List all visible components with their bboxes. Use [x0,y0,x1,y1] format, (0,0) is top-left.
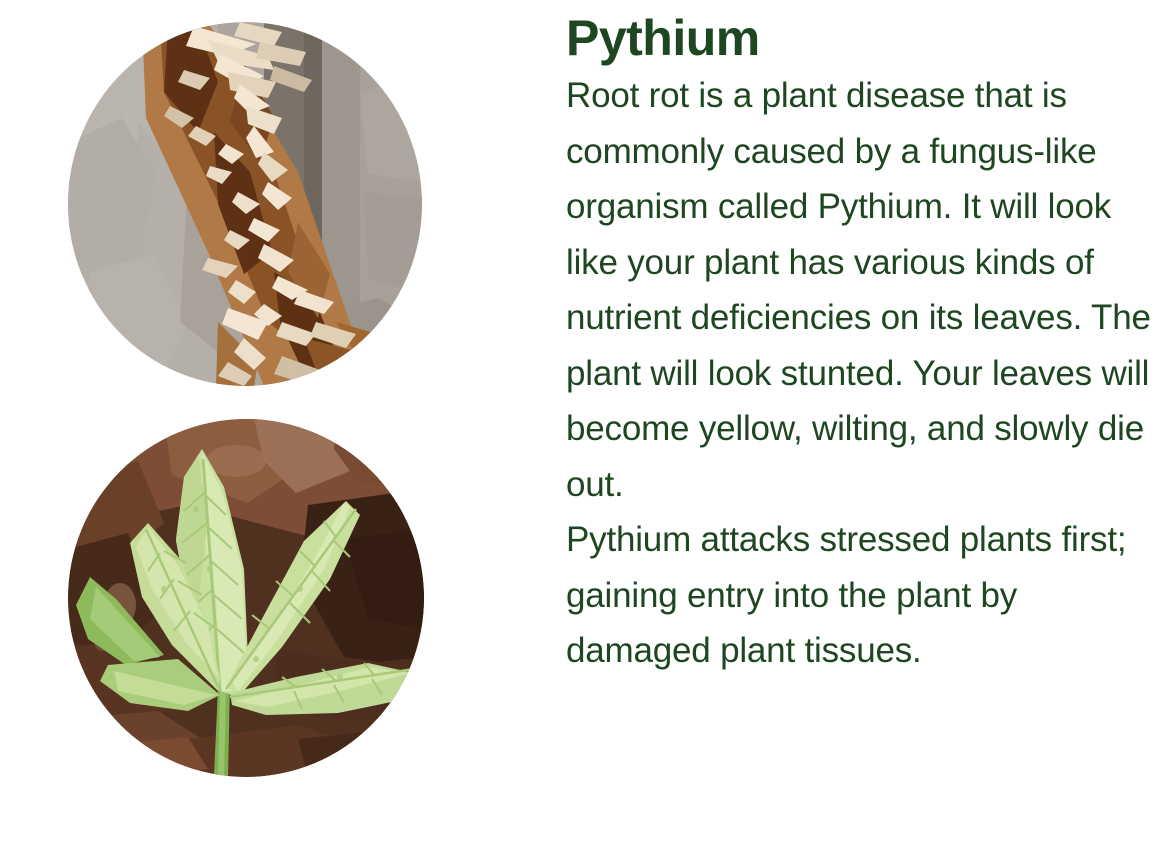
description-paragraph-2: Pythium attacks stressed plants first; g… [566,512,1151,679]
text-column: Pythium Root rot is a plant disease that… [566,0,1156,859]
media-column [0,0,560,859]
yellowing-leaf-photo [68,419,424,777]
description-paragraph-1: Root rot is a plant disease that is comm… [566,68,1151,512]
page-root: Pythium Root rot is a plant disease that… [0,0,1168,859]
page-title: Pythium [566,0,1156,68]
root-rot-photo [68,22,422,386]
